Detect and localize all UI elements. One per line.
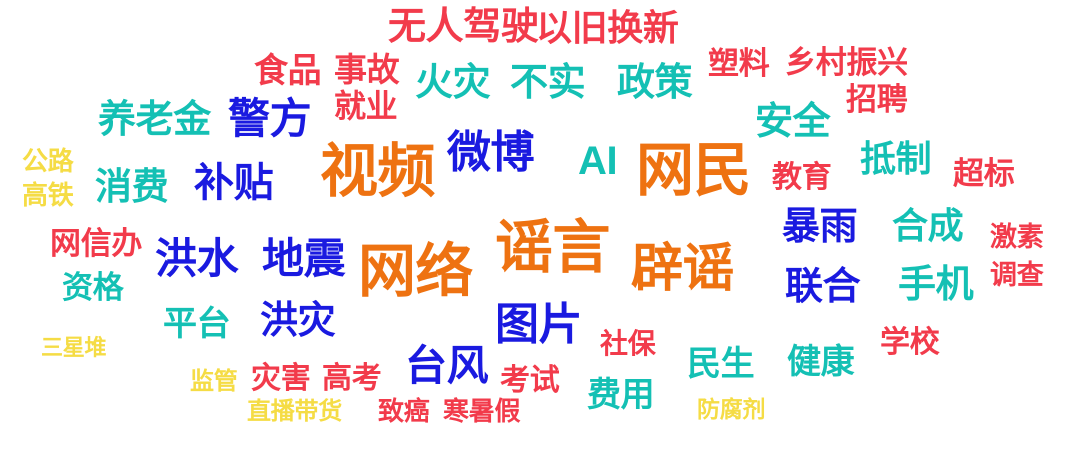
cloud-word[interactable]: 乡村振兴 bbox=[785, 47, 908, 78]
cloud-word[interactable]: 资格 bbox=[62, 272, 123, 303]
cloud-word[interactable]: 图片 bbox=[495, 303, 582, 347]
cloud-word[interactable]: 灾害 bbox=[251, 364, 310, 394]
cloud-word[interactable]: 民生 bbox=[687, 347, 754, 381]
cloud-word[interactable]: 塑料 bbox=[708, 48, 769, 79]
cloud-word[interactable]: 抵制 bbox=[860, 141, 931, 177]
cloud-word[interactable]: 养老金 bbox=[98, 101, 211, 139]
cloud-word[interactable]: 致癌 bbox=[378, 398, 429, 424]
cloud-word[interactable]: 招聘 bbox=[846, 84, 907, 115]
cloud-word[interactable]: 防腐剂 bbox=[697, 398, 765, 421]
cloud-word[interactable]: 洪灾 bbox=[260, 302, 335, 340]
cloud-word[interactable]: 社保 bbox=[600, 330, 655, 358]
cloud-word[interactable]: 网民 bbox=[636, 142, 751, 200]
cloud-word[interactable]: 费用 bbox=[587, 378, 654, 412]
cloud-word[interactable]: 监管 bbox=[190, 370, 238, 394]
cloud-word[interactable]: 警方 bbox=[228, 98, 311, 140]
cloud-word[interactable]: 以旧换新 bbox=[536, 10, 679, 46]
cloud-word[interactable]: 地震 bbox=[262, 238, 345, 280]
cloud-word[interactable]: 联合 bbox=[785, 268, 860, 306]
cloud-word[interactable]: 火灾 bbox=[415, 64, 490, 102]
cloud-word[interactable]: 教育 bbox=[772, 163, 831, 193]
cloud-word[interactable]: 就业 bbox=[334, 90, 397, 122]
cloud-word[interactable]: 无人驾驶 bbox=[388, 8, 538, 46]
cloud-word[interactable]: 食品 bbox=[254, 54, 321, 88]
cloud-word[interactable]: 激素 bbox=[990, 224, 1043, 251]
cloud-word[interactable]: 学校 bbox=[880, 328, 939, 358]
cloud-word[interactable]: 公路 bbox=[22, 148, 73, 174]
cloud-word[interactable]: 调查 bbox=[990, 262, 1043, 289]
cloud-word[interactable]: 手机 bbox=[898, 266, 973, 304]
cloud-word[interactable]: 网络 bbox=[358, 243, 473, 301]
cloud-word[interactable]: 洪水 bbox=[155, 238, 238, 280]
cloud-word[interactable]: 超标 bbox=[953, 158, 1014, 189]
cloud-word[interactable]: 三星堆 bbox=[41, 337, 106, 359]
cloud-word[interactable]: 合成 bbox=[892, 208, 963, 244]
cloud-word[interactable]: 辟谣 bbox=[631, 243, 734, 295]
cloud-word[interactable]: 事故 bbox=[334, 53, 399, 86]
cloud-word[interactable]: AI bbox=[578, 141, 617, 181]
cloud-word[interactable]: 台风 bbox=[405, 345, 488, 387]
cloud-word[interactable]: 暴雨 bbox=[782, 208, 857, 246]
cloud-word[interactable]: 安全 bbox=[755, 103, 830, 141]
cloud-word[interactable]: 高考 bbox=[322, 364, 381, 394]
cloud-word[interactable]: 平台 bbox=[163, 307, 230, 341]
cloud-word[interactable]: 考试 bbox=[500, 366, 559, 396]
cloud-word[interactable]: 视频 bbox=[320, 143, 435, 201]
cloud-word[interactable]: 谣言 bbox=[495, 219, 610, 277]
cloud-word[interactable]: 消费 bbox=[95, 168, 168, 205]
cloud-word[interactable]: 寒暑假 bbox=[443, 398, 520, 424]
cloud-word[interactable]: 网信办 bbox=[50, 228, 142, 259]
cloud-word[interactable]: 补贴 bbox=[194, 163, 273, 203]
word-cloud-canvas: 无人驾驶以旧换新食品事故火灾不实政策塑料乡村振兴养老金警方就业招聘安全公路高铁消… bbox=[0, 0, 1066, 465]
cloud-word[interactable]: 直播带货 bbox=[247, 400, 342, 424]
cloud-word[interactable]: 不实 bbox=[510, 64, 585, 102]
cloud-word[interactable]: 健康 bbox=[787, 345, 854, 379]
cloud-word[interactable]: 高铁 bbox=[22, 182, 73, 208]
cloud-word[interactable]: 微博 bbox=[447, 131, 534, 175]
cloud-word[interactable]: 政策 bbox=[617, 64, 692, 102]
